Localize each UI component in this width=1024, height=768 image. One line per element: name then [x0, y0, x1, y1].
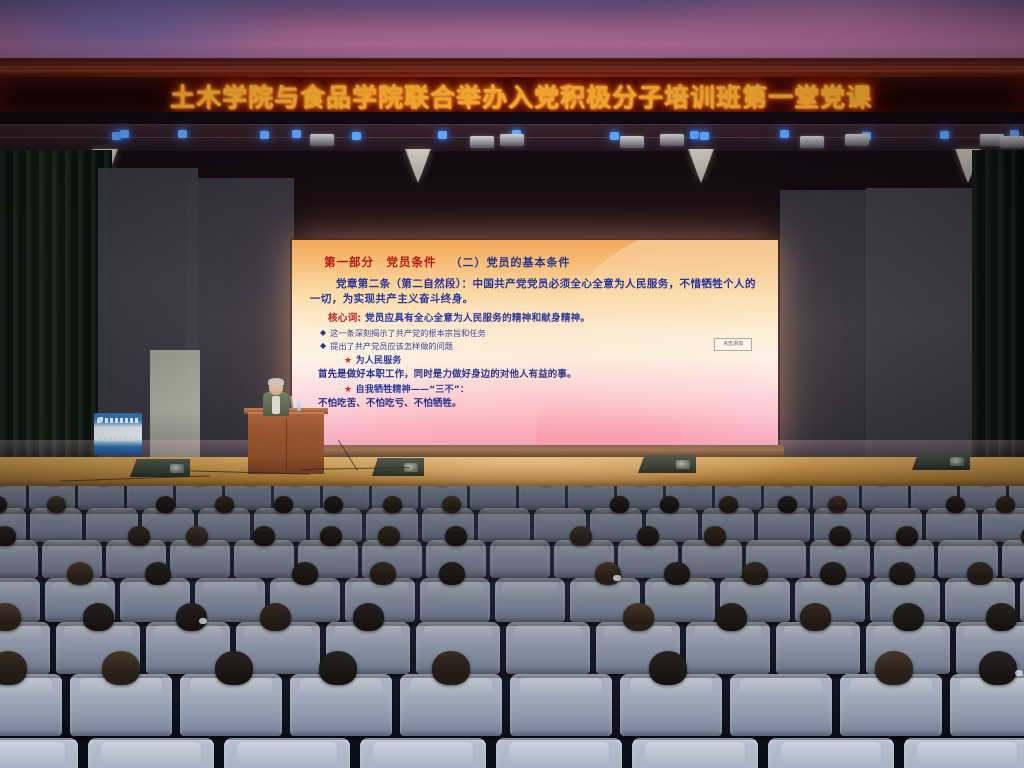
bullet-diamond-icon: ◆ — [320, 340, 326, 352]
truss-blue-light — [940, 131, 949, 139]
spotlight-fixture — [405, 149, 431, 183]
led-presentation-screen: 第一部分 党员条件 （二）党员的基本条件 党章第二条（第二自然段）：中国共产党党… — [292, 240, 778, 445]
audience-head — [649, 651, 687, 685]
audience-seat — [904, 738, 1024, 768]
list-item: ◆ 这一条深刻揭示了共产党的根本宗旨和任务 — [320, 327, 760, 339]
audience-head — [378, 526, 400, 546]
speaker-shirt — [272, 396, 280, 414]
stand-logo — [97, 416, 139, 424]
auditorium-scene: 土木学院与食品学院联合举办入党积极分子培训班第一堂党课 第一部分 党员条件 （二… — [0, 0, 1024, 768]
spotlight-fixture — [688, 149, 714, 183]
stand-title-text — [105, 418, 139, 423]
audience-head — [128, 526, 150, 546]
audience-head — [889, 562, 915, 585]
slide-star-detail-1: 首先是做好本职工作，同时是力做好身边的对他人有益的事。 — [318, 368, 760, 381]
back-panel-right-1 — [780, 190, 868, 458]
audience-head — [719, 496, 738, 513]
audience-head — [778, 496, 797, 513]
audience-seat — [519, 486, 565, 510]
audience-seat — [88, 738, 214, 768]
stand-subtitle-text — [99, 437, 137, 441]
audience-seat — [490, 540, 550, 578]
truss-fixture-box — [310, 134, 334, 146]
back-panel-right-2 — [866, 188, 972, 458]
face-mask — [199, 618, 207, 624]
slide-content: 第一部分 党员条件 （二）党员的基本条件 党章第二条（第二自然段）：中国共产党党… — [292, 240, 778, 445]
list-item: ◆ 提出了共产党员应该怎样做的问题 — [320, 340, 760, 352]
stand-emblem-icon — [97, 417, 103, 423]
audience-head — [47, 496, 66, 513]
audience-head — [439, 562, 465, 585]
audience-head — [875, 651, 913, 685]
audience-head — [215, 496, 234, 513]
truss-blue-light — [292, 130, 301, 138]
audience-head — [623, 603, 654, 631]
audience-head — [260, 603, 291, 631]
truss-blue-light — [690, 131, 699, 139]
truss-blue-light — [700, 132, 709, 140]
audience-seat — [730, 674, 832, 736]
audience-seat — [1002, 540, 1024, 578]
audience-seat — [478, 508, 530, 542]
audience-seat — [495, 578, 565, 622]
truss-blue-light — [780, 130, 789, 138]
audience-seat — [982, 508, 1024, 542]
audience-seat — [78, 486, 124, 510]
audience-head — [445, 526, 467, 546]
audience-head — [370, 562, 396, 585]
audience-head — [102, 651, 140, 685]
stage-monitor-speaker — [638, 455, 696, 473]
slide-star-heading-2: ★ 自我牺牲精神——“三不”： — [344, 384, 760, 397]
audience-seat — [862, 486, 908, 510]
slide-heading-sub: （二）党员的基本条件 — [451, 254, 571, 270]
truss-fixture-box — [845, 134, 869, 146]
audience-head — [83, 603, 114, 631]
stage-monitor-speaker — [912, 452, 970, 470]
audience-head — [820, 562, 846, 585]
audience-seat — [632, 738, 758, 768]
slide-core-label: 核心词: — [328, 313, 361, 324]
truss-fixture-box — [660, 134, 684, 146]
audience-seat — [568, 486, 614, 510]
slide-star-heading-1: ★ 为人民服务 — [344, 355, 760, 368]
slide-paragraph: 党章第二条（第二自然段）：中国共产党党员必须全心全意为人民服务，不惜牺牲个人的一… — [310, 277, 760, 307]
truss-fixture-box — [800, 136, 824, 148]
audience-head — [292, 562, 318, 585]
slide-body: 党章第二条（第二自然段）：中国共产党党员必须全心全意为人民服务，不惜牺牲个人的一… — [310, 277, 760, 410]
slide-placeholder-tag: 点击添加 — [714, 338, 752, 351]
audience-seat — [768, 738, 894, 768]
stage-curtain-right — [972, 150, 1024, 480]
audience-head — [176, 603, 207, 631]
audience-seat — [758, 508, 810, 542]
stage-light-spill — [250, 457, 810, 489]
audience-head — [716, 603, 747, 631]
audience-head — [979, 651, 1017, 685]
audience-seat — [30, 508, 82, 542]
audience-head — [664, 562, 690, 585]
ceiling-glow-right — [620, 0, 1024, 66]
slide-heading: 第一部分 党员条件 （二）党员的基本条件 — [324, 254, 760, 270]
truss-fixture-box — [500, 134, 524, 146]
bullet-diamond-icon: ◆ — [320, 327, 326, 339]
audience-head — [274, 496, 293, 513]
audience-seat — [496, 738, 622, 768]
audience-head — [704, 526, 726, 546]
star-title: 为人民服务 — [356, 356, 402, 366]
audience-head — [595, 562, 621, 585]
bullet-text: 这一条深刻揭示了共产党的根本宗旨和任务 — [330, 327, 486, 339]
slide-core-text: 党员应具有全心全意为人民服务的精神和献身精神。 — [365, 313, 590, 324]
audience-head — [215, 651, 253, 685]
audience-head — [660, 496, 679, 513]
audience-head — [0, 603, 21, 631]
slide-core-line: 核心词: 党员应具有全心全意为人民服务的精神和献身精神。 — [328, 312, 760, 326]
audience-head — [253, 526, 275, 546]
audience-head — [186, 526, 208, 546]
slide-star-detail-2: 不怕吃苦、不怕吃亏、不怕牺牲。 — [318, 397, 760, 410]
truss-fixture-box — [470, 136, 494, 148]
audience-head — [610, 496, 629, 513]
audience-seat — [926, 508, 978, 542]
truss-blue-light — [438, 131, 447, 139]
audience-head — [570, 526, 592, 546]
truss-fixture-box — [1000, 136, 1024, 148]
speaker-hair — [268, 378, 284, 385]
water-bottle — [297, 400, 301, 411]
audience-head — [996, 496, 1015, 513]
banner-glow-edge — [0, 74, 1024, 77]
audience-head — [946, 496, 965, 513]
spotlight-lens — [407, 149, 429, 179]
audience-head — [319, 651, 357, 685]
audience-seat — [506, 622, 590, 674]
audience-head — [742, 562, 768, 585]
audience-head — [896, 526, 918, 546]
audience-head — [800, 603, 831, 631]
audience-head — [637, 526, 659, 546]
audience-head — [829, 526, 851, 546]
stage-monitor-speaker — [130, 459, 190, 477]
truss-blue-light — [610, 132, 619, 140]
star-icon: ★ — [344, 385, 352, 395]
audience-head — [442, 496, 461, 513]
star-icon: ★ — [344, 356, 352, 366]
audience-seat — [224, 738, 350, 768]
seated-audience — [0, 486, 1024, 768]
audience-seat — [0, 738, 78, 768]
audience-head — [0, 526, 16, 546]
bullet-text: 提出了共产党员应该怎样做的问题 — [330, 340, 453, 352]
truss-fixture-box — [620, 136, 644, 148]
star-title: 自我牺牲精神——“三不”： — [356, 385, 469, 395]
spotlight-lens — [690, 149, 712, 179]
audience-head — [353, 603, 384, 631]
audience-head — [324, 496, 343, 513]
audience-head — [893, 603, 924, 631]
audience-head — [986, 603, 1017, 631]
audience-seat — [470, 486, 516, 510]
audience-seat — [510, 674, 612, 736]
audience-head — [828, 496, 847, 513]
banner-text: 土木学院与食品学院联合举办入党积极分子培训班第一堂党课 — [170, 78, 872, 114]
audience-head — [320, 526, 342, 546]
podium — [248, 412, 324, 474]
blue-display-stand — [94, 413, 142, 455]
audience-seat — [590, 508, 642, 542]
audience-seat — [1020, 578, 1024, 622]
audience-head — [67, 562, 93, 585]
audience-head — [156, 496, 175, 513]
audience-head — [145, 562, 171, 585]
slide-bullets: ◆ 这一条深刻揭示了共产党的根本宗旨和任务 ◆ 提出了共产党员应该怎样做的问题 — [320, 327, 760, 352]
audience-head — [383, 496, 402, 513]
truss-blue-light — [178, 130, 187, 138]
face-mask — [613, 575, 621, 581]
truss-blue-light — [352, 132, 361, 140]
slide-heading-part: 第一部分 党员条件 — [324, 254, 437, 270]
truss-blue-light — [260, 131, 269, 139]
audience-head — [967, 562, 993, 585]
podium-seam — [286, 418, 287, 470]
truss-blue-light — [120, 130, 129, 138]
audience-head — [432, 651, 470, 685]
face-mask — [1015, 670, 1023, 676]
audience-seat — [360, 738, 486, 768]
